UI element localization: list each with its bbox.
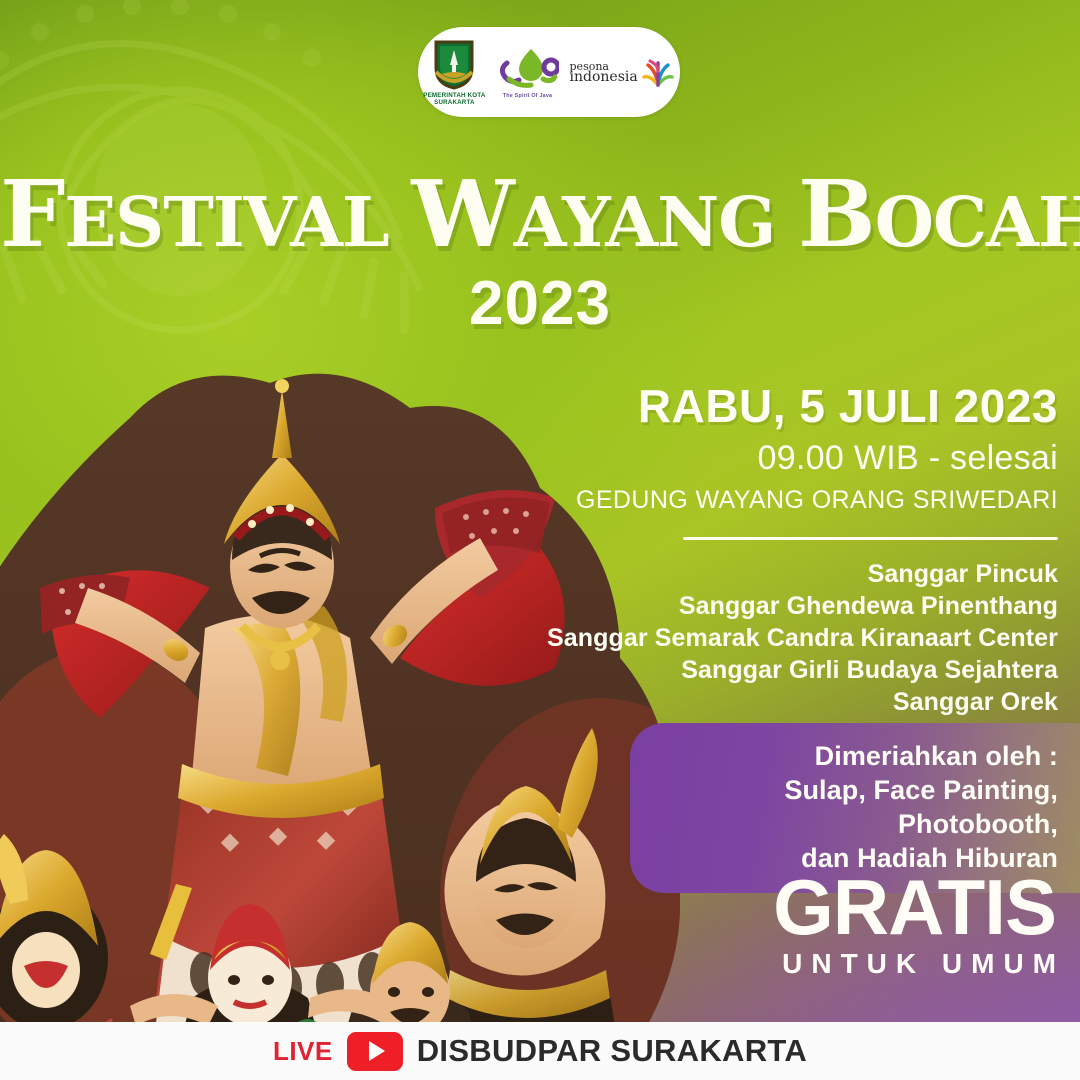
list-item: Sanggar Semarak Candra Kiranaart Center [458,622,1058,654]
title-word-2-rest: AYANG [514,183,776,263]
live-label: LIVE [273,1036,333,1067]
youtube-play-icon[interactable] [347,1032,403,1071]
title-word-2-cap: W [411,160,513,268]
title-word-1-cap: F [0,160,64,268]
list-item: Sanggar Girli Budaya Sejahtera [458,654,1058,686]
section-divider [683,537,1058,540]
event-venue: GEDUNG WAYANG ORANG SRIWEDARI [458,486,1058,515]
event-date: RABU, 5 JULI 2023 [458,383,1058,431]
gratis-headline: GRATIS [773,872,1056,944]
solo-spirit-of-java-logo: The Spirit Of Java [497,45,559,99]
panel-heading: Dimeriahkan oleh : [656,739,1058,773]
participant-group-list: Sanggar Pincuk Sanggar Ghendewa Pinentha… [458,558,1058,718]
title-year: 2023 [0,268,1080,339]
title-word-3-cap: B [798,160,875,268]
gratis-subline: UNTUK UMUM [773,948,1065,980]
live-channel-name: DISBUDPAR SURAKARTA [417,1033,807,1069]
event-time: 09.00 WIB - selesai [458,439,1058,478]
poster-title-block: FESTIVAL WAYANG BOCAH 2023 [0,168,1080,339]
solo-tagline: The Spirit Of Java [503,93,552,99]
live-stream-bar: LIVE DISBUDPAR SURAKARTA [0,1022,1080,1080]
event-info-block: RABU, 5 JULI 2023 09.00 WIB - selesai GE… [458,383,1058,718]
pesona-mark-icon [641,55,675,89]
title-word-3-rest: OCAH [875,183,1080,263]
list-item: Sanggar Orek [458,686,1058,718]
surakarta-crest-icon: PEMERINTAH KOTA SURAKARTA [423,38,485,106]
pesona-indonesia-logo: pesona indonesia [570,55,675,89]
title-word-1-rest: ESTIVAL [64,183,388,263]
poster-title: FESTIVAL WAYANG BOCAH [0,168,1080,260]
event-poster: PEMERINTAH KOTA SURAKARTA The Spirit Of … [0,0,1080,1080]
list-item: Sanggar Ghendewa Pinenthang [458,590,1058,622]
list-item: Sanggar Pincuk [458,558,1058,590]
free-admission-block: GRATIS UNTUK UMUM [773,872,1056,980]
sponsor-logo-pill: PEMERINTAH KOTA SURAKARTA The Spirit Of … [418,27,680,117]
crest-caption: PEMERINTAH KOTA SURAKARTA [423,92,485,106]
panel-line-2: Sulap, Face Painting, Photobooth, [656,773,1058,841]
indonesia-word: indonesia [570,72,638,83]
